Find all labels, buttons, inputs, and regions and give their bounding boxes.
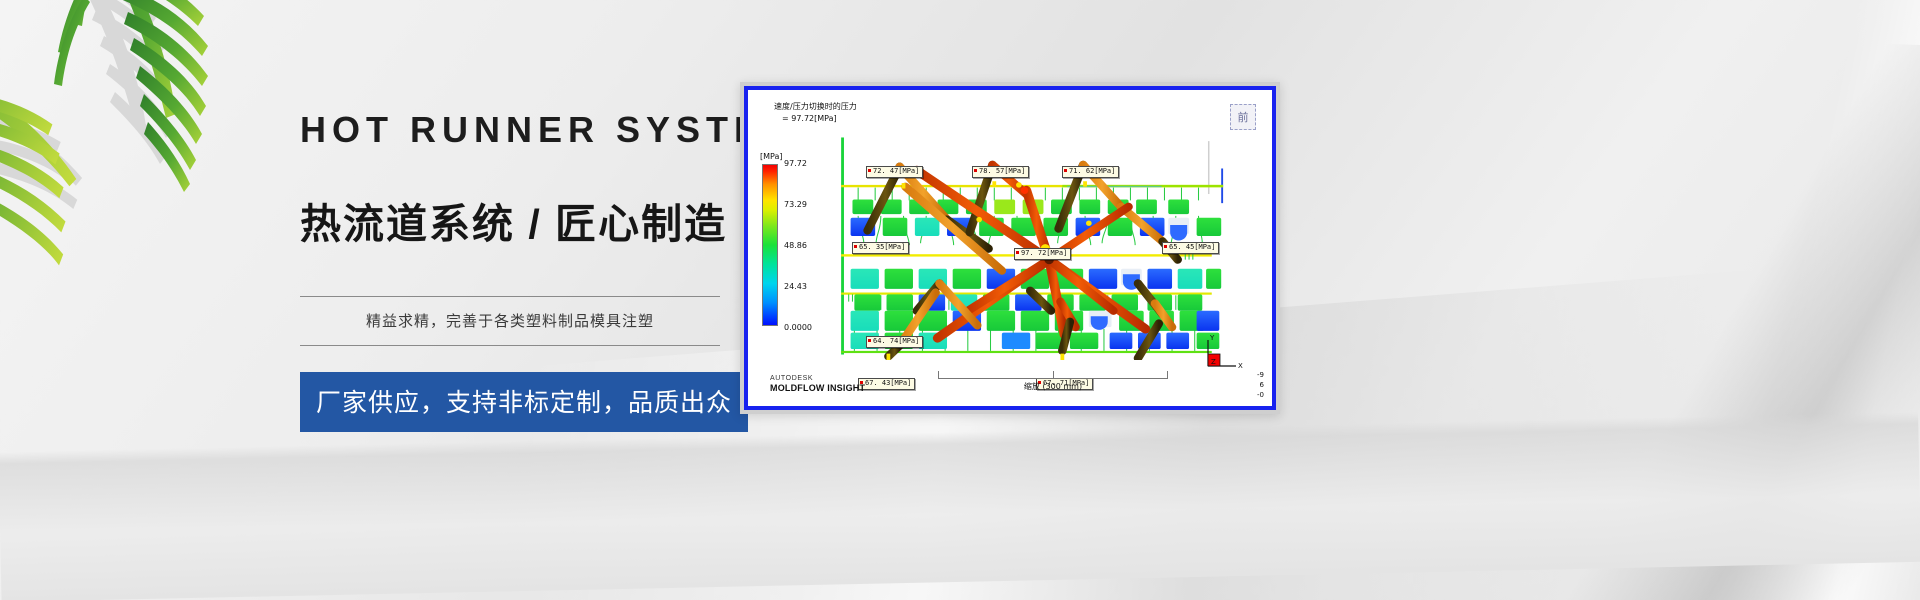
axis-triad-icon: Y X Z	[1200, 332, 1246, 378]
palm-leaf-icon	[0, 0, 290, 270]
background-floor-band	[0, 412, 1920, 600]
figure-title-line2: = 97.72[MPa]	[774, 113, 857, 125]
pressure-colorbar: [MPa] 97.72 73.29 48.86 24.43 0.0000	[758, 152, 828, 326]
page-title: HOT RUNNER SYSTEM	[300, 110, 720, 150]
colorbar-tick-1: 73.29	[784, 200, 807, 209]
view-orientation-badge[interactable]: 前	[1230, 104, 1256, 130]
promo-subline: 精益求精，完善于各类塑料制品模具注塑	[300, 297, 720, 345]
moldflow-figure: 速度/压力切换时的压力 = 97.72[MPa] 前 [MPa] 97.72 7…	[740, 82, 1280, 414]
moldflow-canvas: 速度/压力切换时的压力 = 97.72[MPa] 前 [MPa] 97.72 7…	[744, 86, 1276, 410]
callout-pressure[interactable]: 72. 47[MPa]	[866, 166, 923, 178]
axis-value-2: -0	[1257, 390, 1264, 400]
scale-bar: 缩放 (300 mm)	[938, 371, 1168, 392]
axis-value-1: 6	[1257, 380, 1264, 390]
autodesk-brand: AUTODESK MOLDFLOW INSIGHT	[770, 375, 865, 394]
subline-block: 精益求精，完善于各类塑料制品模具注塑	[300, 296, 720, 346]
colorbar-tick-2: 48.86	[784, 241, 807, 250]
callout-pressure[interactable]: 71. 62[MPa]	[1062, 166, 1119, 178]
colorbar-tick-4: 0.0000	[784, 323, 812, 332]
figure-title: 速度/压力切换时的压力 = 97.72[MPa]	[774, 101, 857, 124]
figure-title-line1: 速度/压力切换时的压力	[774, 101, 857, 113]
svg-text:Z: Z	[1211, 358, 1216, 366]
svg-text:Y: Y	[1209, 334, 1215, 342]
svg-text:X: X	[1238, 362, 1243, 370]
axis-value-0: -9	[1257, 370, 1264, 380]
scale-bar-label: 缩放 (300 mm)	[938, 381, 1168, 392]
callout-pressure[interactable]: 65. 45[MPa]	[1162, 242, 1219, 254]
callout-pressure[interactable]: 65. 35[MPa]	[852, 242, 909, 254]
divider-bottom	[300, 345, 720, 346]
brand-autodesk: AUTODESK	[770, 375, 865, 383]
cta-banner[interactable]: 厂家供应，支持非标定制，品质出众	[300, 372, 748, 432]
callout-pressure[interactable]: 64. 74[MPa]	[866, 336, 923, 348]
colorbar-gradient	[762, 164, 778, 326]
brand-moldflow-insight: MOLDFLOW INSIGHT	[770, 383, 865, 394]
colorbar-tick-3: 24.43	[784, 282, 807, 291]
palm-leaf-decoration	[0, 0, 290, 270]
axis-coordinate-values: -9 6 -0	[1257, 370, 1264, 400]
colorbar-tick-0: 97.72	[784, 159, 807, 168]
page-subtitle-cn: 热流道系统 / 匠心制造	[300, 190, 720, 250]
callout-pressure-max[interactable]: 97. 72[MPa]	[1014, 248, 1071, 260]
callout-pressure[interactable]: 78. 57[MPa]	[972, 166, 1029, 178]
promo-text-block: HOT RUNNER SYSTEM 热流道系统 / 匠心制造 精益求精，完善于各…	[300, 110, 720, 432]
scale-bar-line	[938, 371, 1168, 379]
axis-triad: Y X Z	[1200, 332, 1246, 378]
callout-pressure[interactable]: 67. 43[MPa]	[858, 378, 915, 390]
colorbar-ticks: 97.72 73.29 48.86 24.43 0.0000	[784, 159, 828, 331]
